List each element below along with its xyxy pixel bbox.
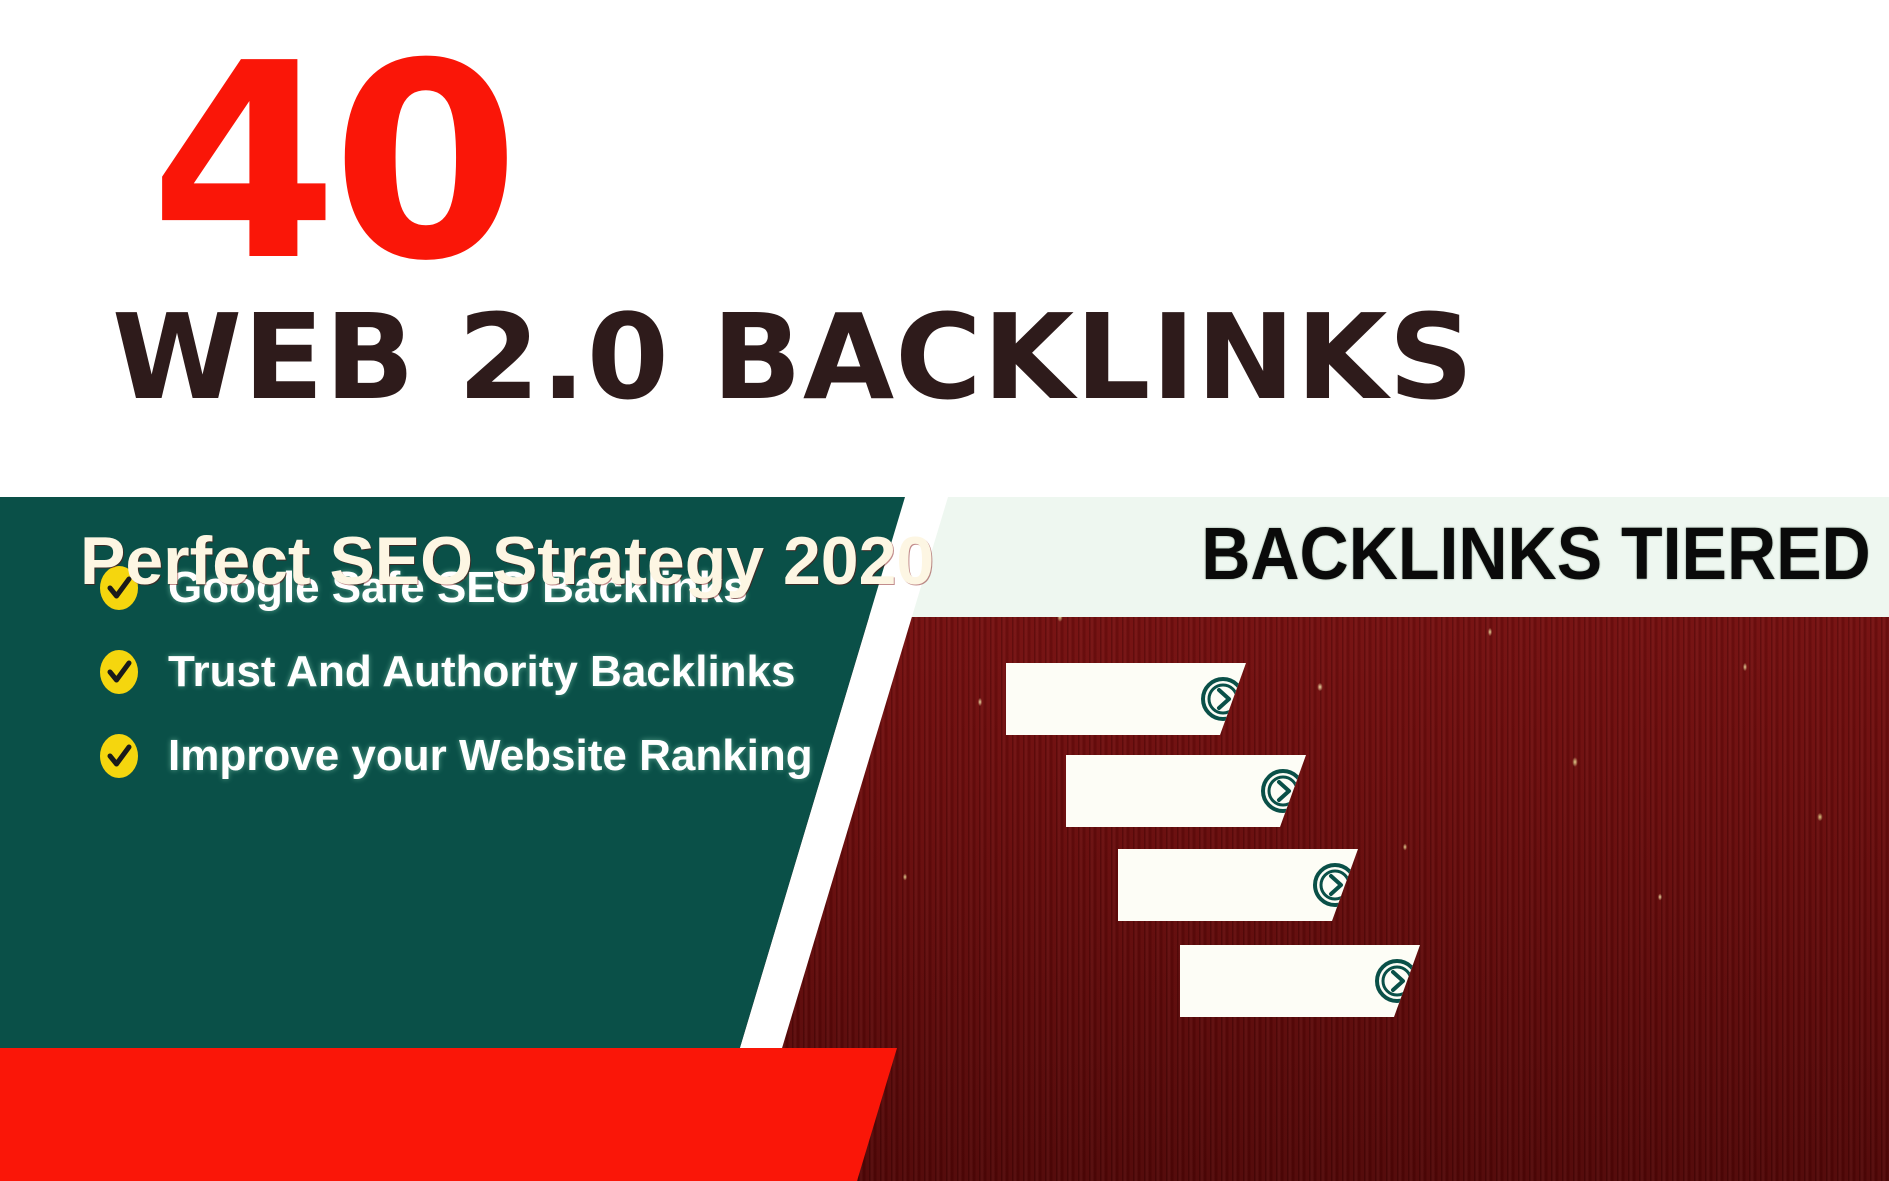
offer-count: 40 [150, 28, 514, 298]
page-title: WEB 2.0 BACKLINKS [112, 296, 1474, 420]
list-item-label: Trust And Authority Backlinks [168, 650, 796, 694]
tier-row[interactable]: Manually And Safe [1118, 849, 1358, 921]
tier-row[interactable]: Trust and Authority [1066, 755, 1306, 827]
list-item[interactable]: Trust And Authority Backlinks [98, 649, 796, 695]
list-item-label: Improve your Website Ranking [168, 734, 813, 778]
check-circle-icon [98, 733, 140, 779]
check-circle-icon [98, 649, 140, 695]
hero-banner: 40 WEB 2.0 BACKLINKS [0, 0, 1889, 497]
list-item[interactable]: Improve your Website Ranking [98, 733, 813, 779]
feature-panel: BACKLINKS TIERED Effective Ranking Boost… [0, 497, 1889, 1181]
tier-row[interactable]: Effective Ranking Boost [1006, 663, 1246, 735]
tier-row[interactable]: Contextual Links [1180, 945, 1420, 1017]
strategy-banner [0, 1048, 960, 1181]
tiered-header-title: BACKLINKS TIERED [1202, 517, 1871, 591]
strategy-banner-text: Perfect SEO Strategy 2020 [80, 527, 934, 595]
